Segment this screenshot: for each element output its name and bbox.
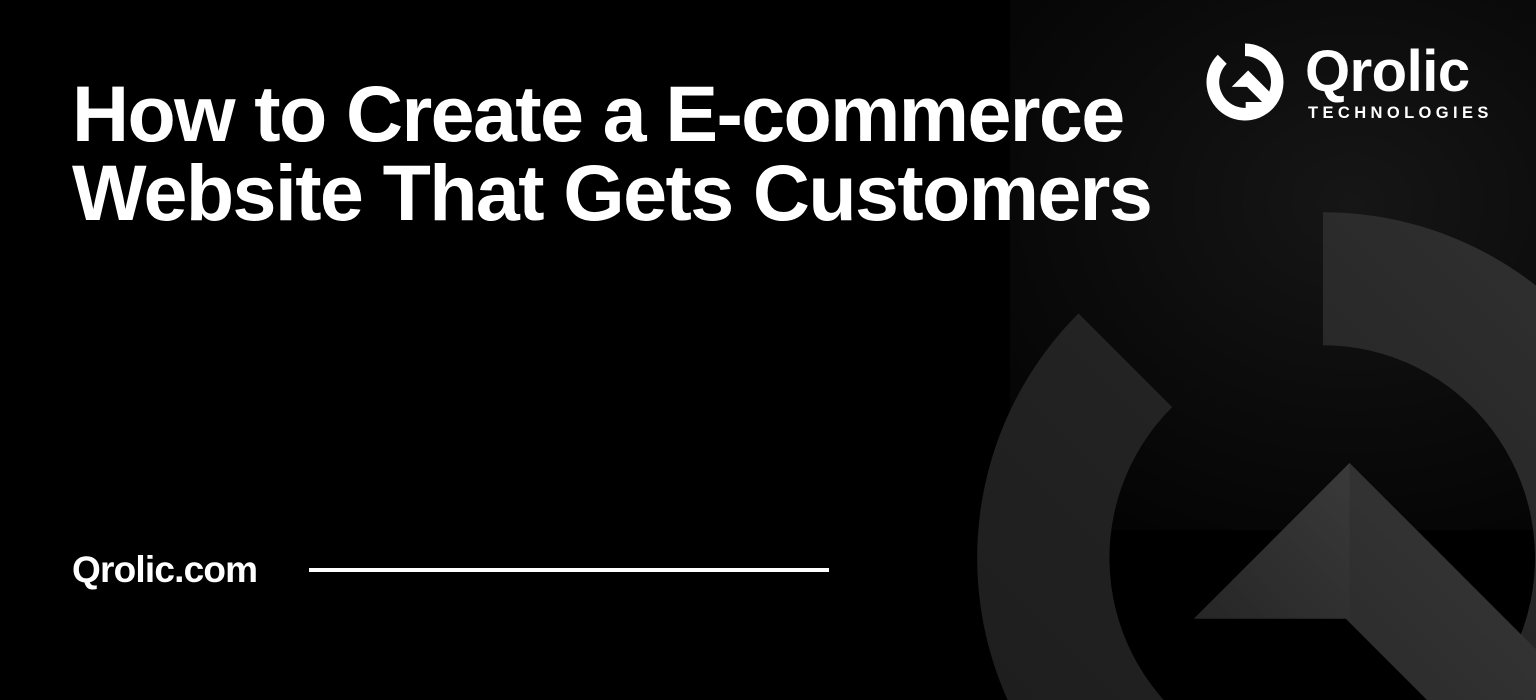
qrolic-logo-text: Qrolic TECHNOLOGIES — [1305, 43, 1493, 122]
qrolic-tagline: TECHNOLOGIES — [1305, 98, 1493, 122]
qrolic-logo: Qrolic TECHNOLOGIES — [1203, 40, 1493, 124]
footer-website-label: Qrolic.com — [72, 551, 257, 588]
qrolic-logo-watermark-icon — [943, 178, 1536, 700]
qrolic-wordmark: Qrolic — [1305, 45, 1470, 98]
headline-line-1: How to Create a E-commerce — [72, 74, 1152, 153]
banner-headline: How to Create a E-commerce Website That … — [72, 74, 1152, 232]
qrolic-logo-mark-icon — [1203, 40, 1287, 124]
blog-banner: How to Create a E-commerce Website That … — [0, 0, 1536, 700]
footer-divider-rule — [309, 568, 829, 572]
headline-line-2: Website That Gets Customers — [72, 153, 1152, 232]
banner-footer: Qrolic.com — [72, 551, 829, 588]
